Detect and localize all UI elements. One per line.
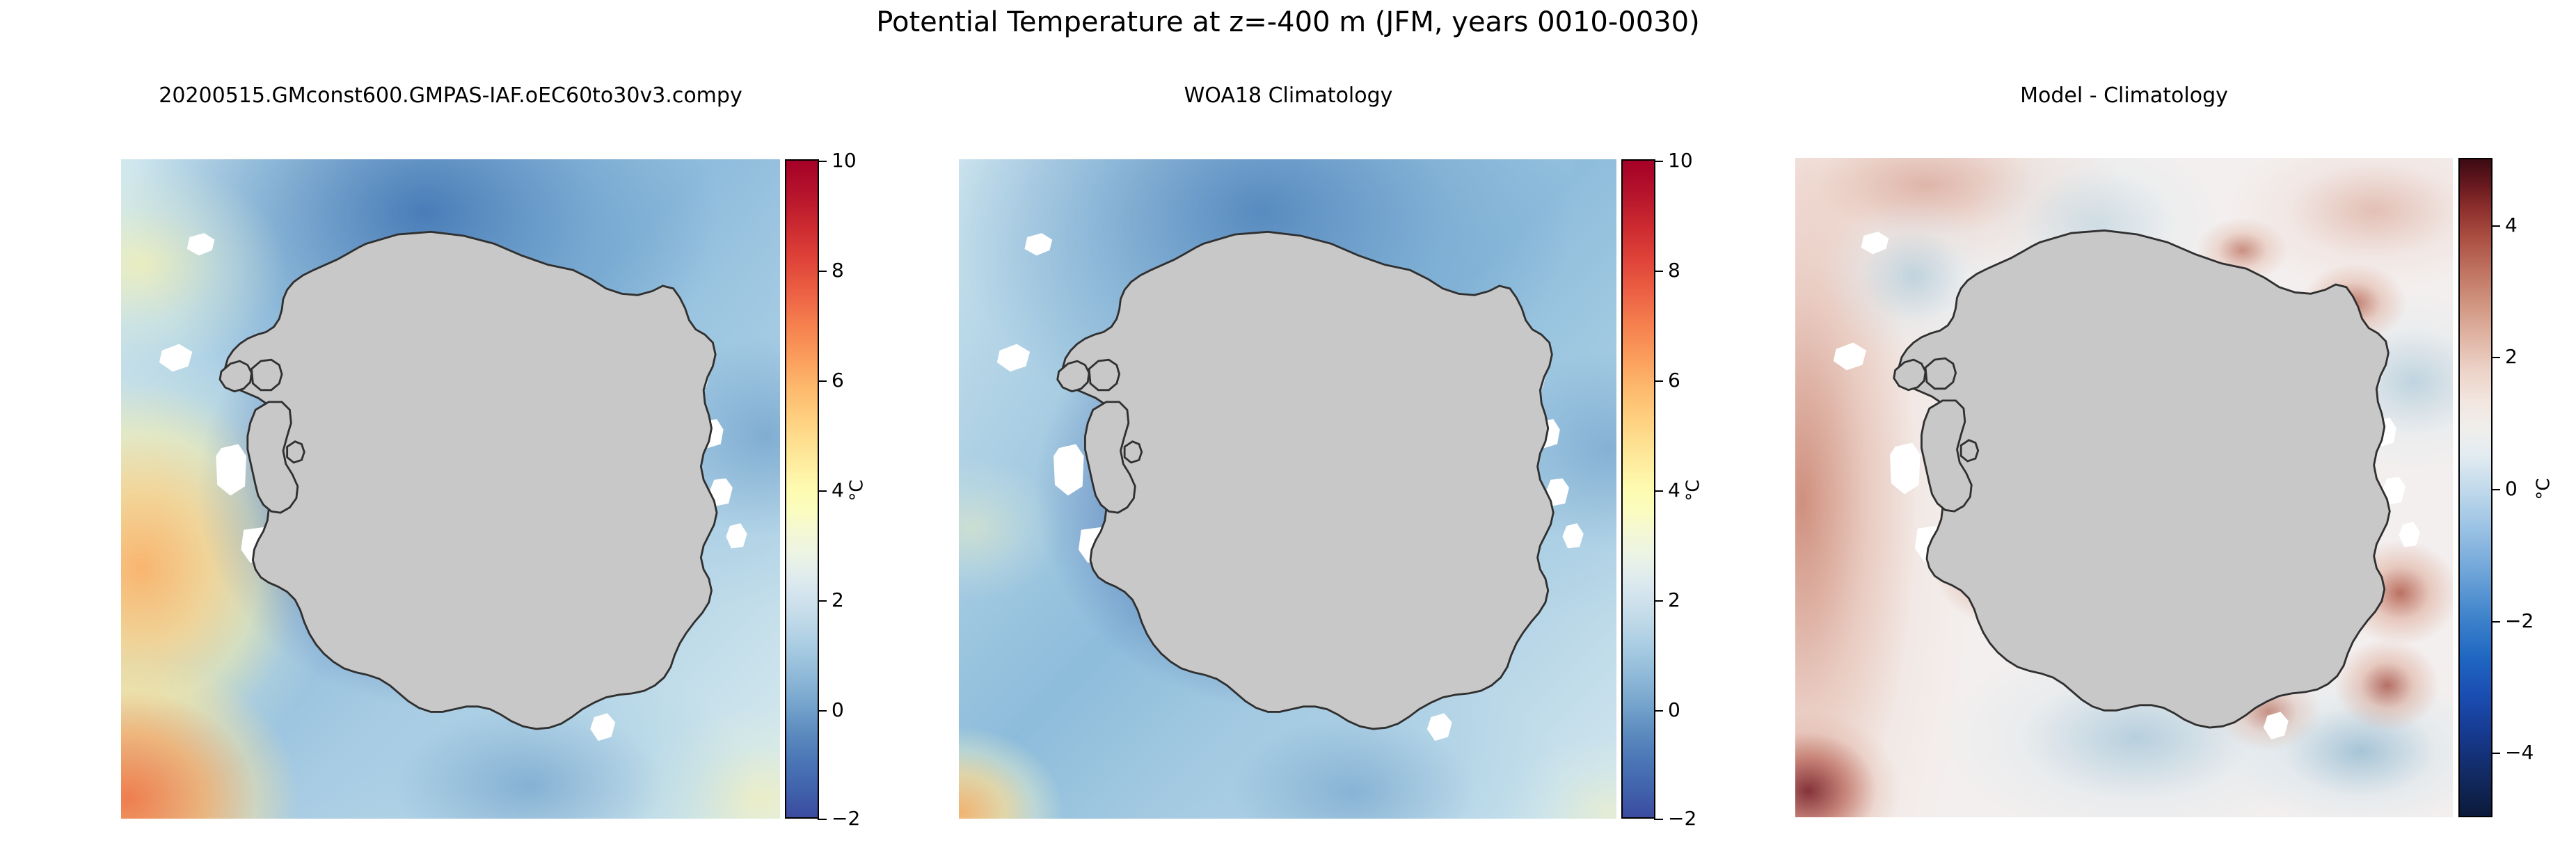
- colorbar-tick-label: 4: [832, 481, 844, 500]
- colorbar-tick-label: −4: [2505, 743, 2534, 762]
- colorbar-unit-label: °C: [847, 479, 868, 501]
- panel-title-difference: Model - Climatology: [1795, 83, 2453, 109]
- colorbar-unit-label: °C: [1683, 479, 1704, 501]
- map-panel-model[interactable]: [121, 159, 780, 819]
- colorbar-tick-label: 10: [1668, 151, 1693, 170]
- panel-title-climatology: WOA18 Climatology: [959, 83, 1618, 109]
- colorbar-tick-label: −2: [832, 809, 860, 828]
- colorbar-tick-label: 6: [832, 371, 844, 390]
- colorbar-tick-label: 8: [832, 261, 844, 280]
- colorbar-tick-label: 0: [1668, 700, 1680, 720]
- colorbar-tick-label: 6: [1668, 371, 1680, 390]
- colorbar-climatology[interactable]: 10 8 6 4 2 0 −2: [1621, 159, 1655, 819]
- antarctica-landmass-climatology: [959, 159, 1616, 819]
- figure-title: Potential Temperature at z=-400 m (JFM, …: [0, 6, 2576, 39]
- panel-title-model: 20200515.GMconst600.GMPAS-IAF.oEC60to30v…: [0, 83, 901, 109]
- colorbar-model[interactable]: 10 8 6 4 2 0 −2: [785, 159, 819, 819]
- colorbar-tick-label: 8: [1668, 261, 1680, 280]
- colorbar-tick-label: −2: [2505, 611, 2534, 631]
- colorbar-tick-label: 10: [832, 151, 857, 170]
- colorbar-tick-label: 2: [1668, 591, 1680, 610]
- colorbar-tick-label: −2: [1668, 809, 1696, 828]
- figure-canvas: Potential Temperature at z=-400 m (JFM, …: [0, 0, 2576, 843]
- antarctica-landmass-difference: [1795, 158, 2453, 817]
- map-panel-difference[interactable]: [1795, 158, 2453, 817]
- colorbar-tick-label: 0: [832, 700, 844, 720]
- colorbar-tick-label: 0: [2505, 479, 2518, 499]
- colorbar-tick-label: 2: [2505, 347, 2518, 367]
- colorbar-tick-label: 4: [2505, 216, 2518, 235]
- colorbar-tick-label: 2: [832, 591, 844, 610]
- map-panel-climatology[interactable]: [959, 159, 1616, 819]
- colorbar-difference[interactable]: 4 2 0 −2 −4: [2458, 158, 2492, 817]
- antarctica-landmass-model: [121, 159, 780, 819]
- colorbar-tick-label: 4: [1668, 481, 1680, 500]
- colorbar-unit-label: °C: [2534, 478, 2554, 499]
